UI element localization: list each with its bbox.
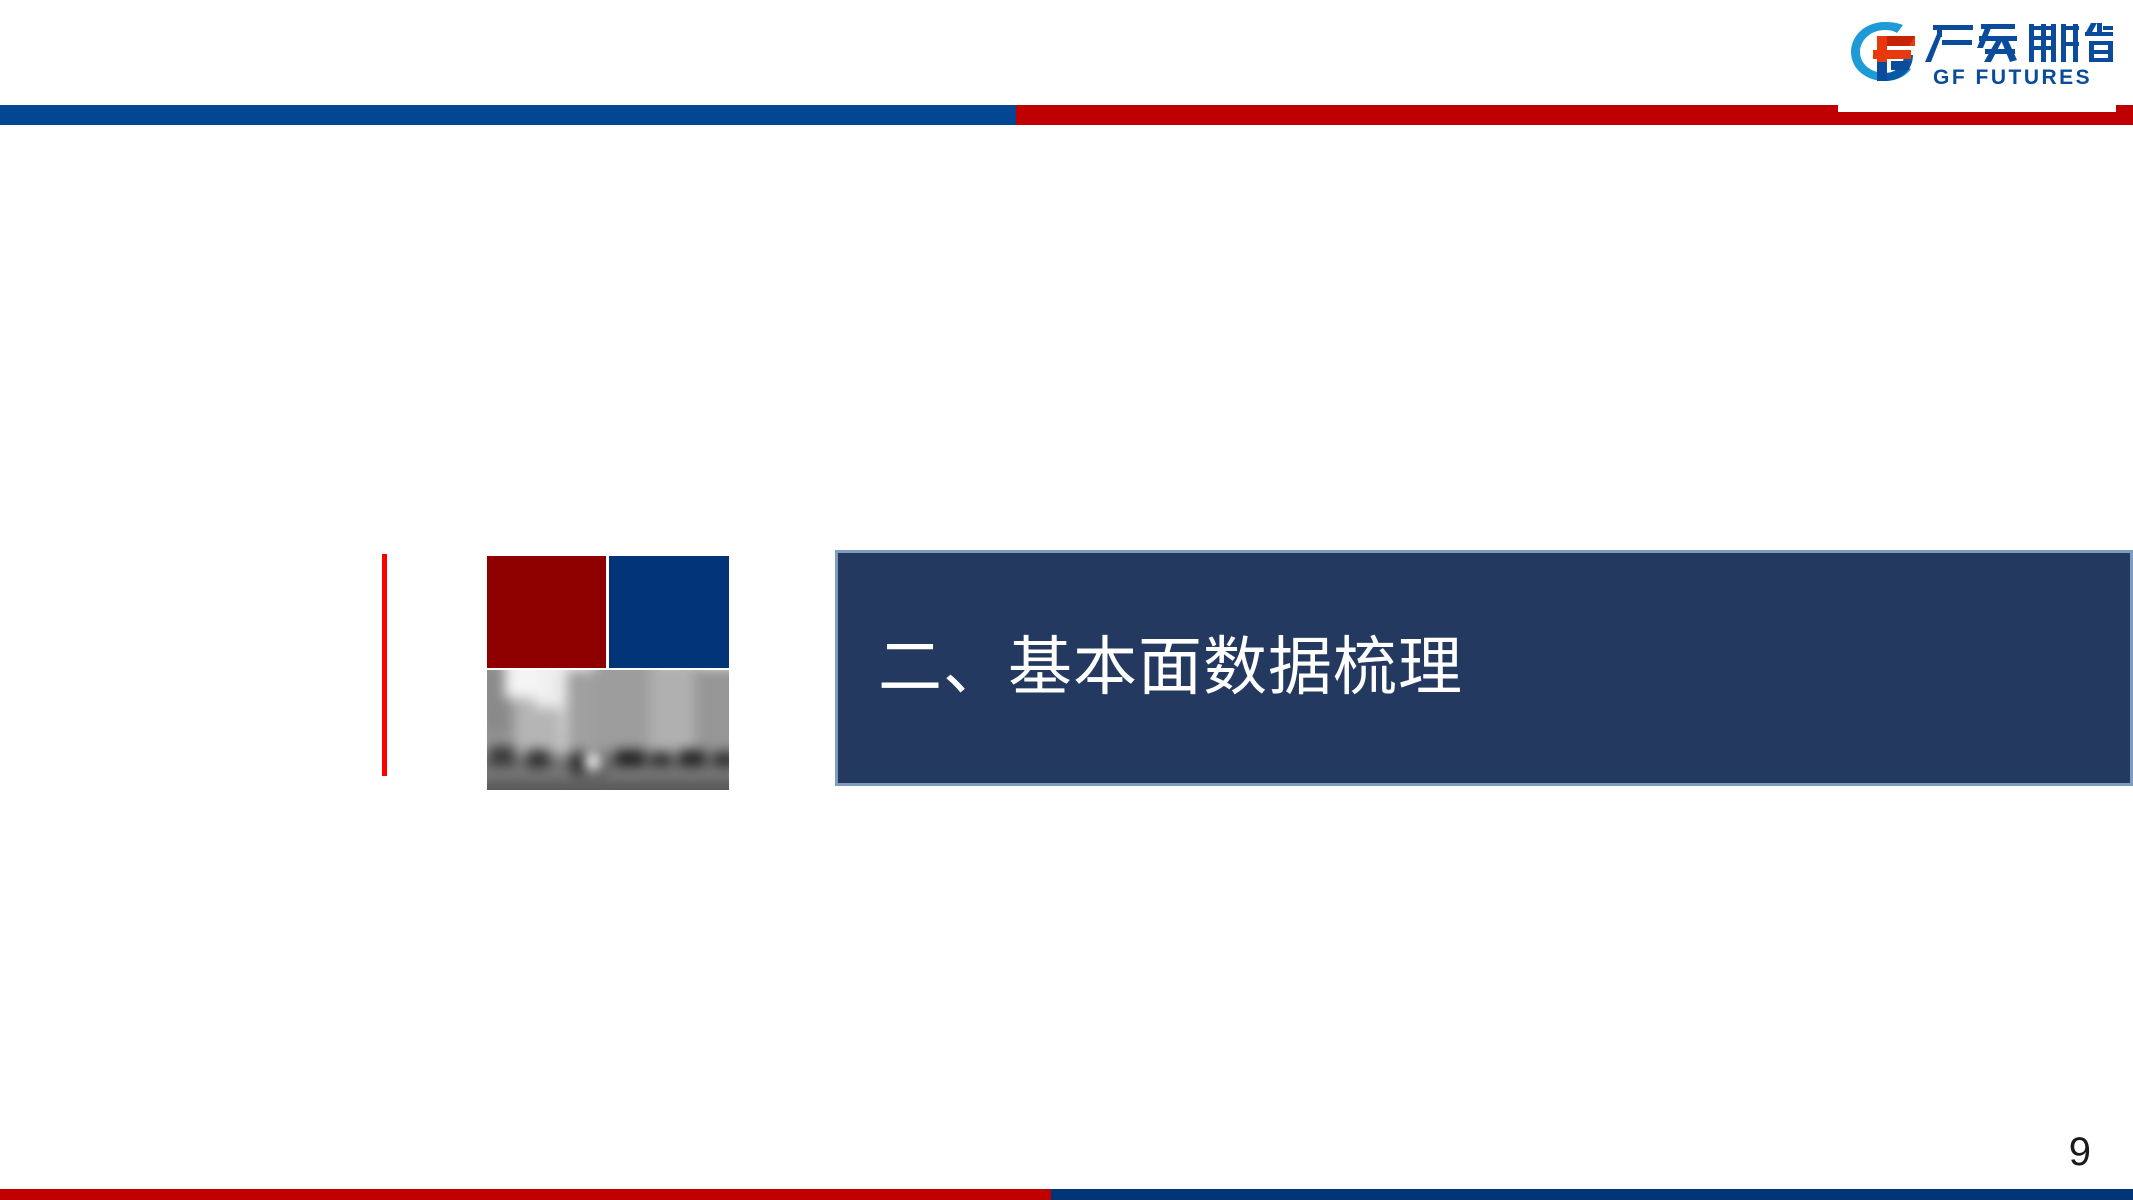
logo-chinese-text [1925,23,2113,62]
decoration-red-square [487,556,606,668]
page-number: 9 [2069,1130,2091,1175]
gf-futures-logo: GF FUTURES [1845,14,2117,88]
city-street-photo-icon [487,670,729,790]
section-accent-rule [382,554,387,776]
section-title-banner: 二、基本面数据梳理 [835,550,2133,786]
decoration-photo [487,670,729,790]
footer-color-band [0,1189,2133,1200]
footer-band-red-segment [0,1189,1051,1200]
decoration-photo-blur-layer [487,670,729,790]
header-color-band [0,105,2133,125]
header-band-blue-segment [0,105,1016,125]
logo-english-text: GF FUTURES [1933,66,2092,88]
slide-canvas: GF FUTURES [0,0,2133,1200]
logo-mark [1851,22,1915,81]
section-decoration-blocks [487,556,729,790]
svg-text:GF FUTURES: GF FUTURES [1933,66,2092,88]
gf-futures-logo-icon: GF FUTURES [1845,14,2117,88]
footer-band-blue-segment [1051,1189,2133,1200]
decoration-blue-square [609,556,729,668]
section-title: 二、基本面数据梳理 [878,636,1463,700]
